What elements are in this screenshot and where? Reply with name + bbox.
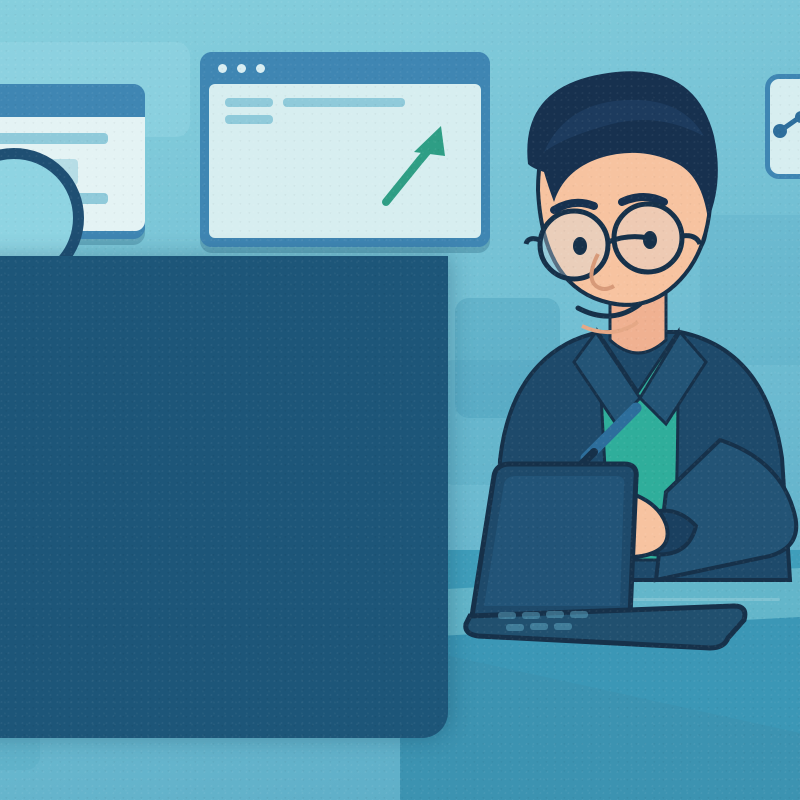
result-line-1 [0,133,108,144]
upward-trend-arrow-icon [386,126,445,202]
window-dot-1 [218,64,227,73]
laptop-icon [418,440,758,680]
window-dot-3 [256,64,265,73]
eye-left [573,237,587,255]
window-body [209,84,481,238]
window-dot-2 [237,64,246,73]
bar-chart [209,84,481,247]
eye-right [643,231,657,249]
seo-info-panel [0,256,448,738]
seo-course-promo-image [0,0,800,800]
analytics-chart-window[interactable] [200,52,490,247]
laptop-screen-inner [484,476,624,606]
